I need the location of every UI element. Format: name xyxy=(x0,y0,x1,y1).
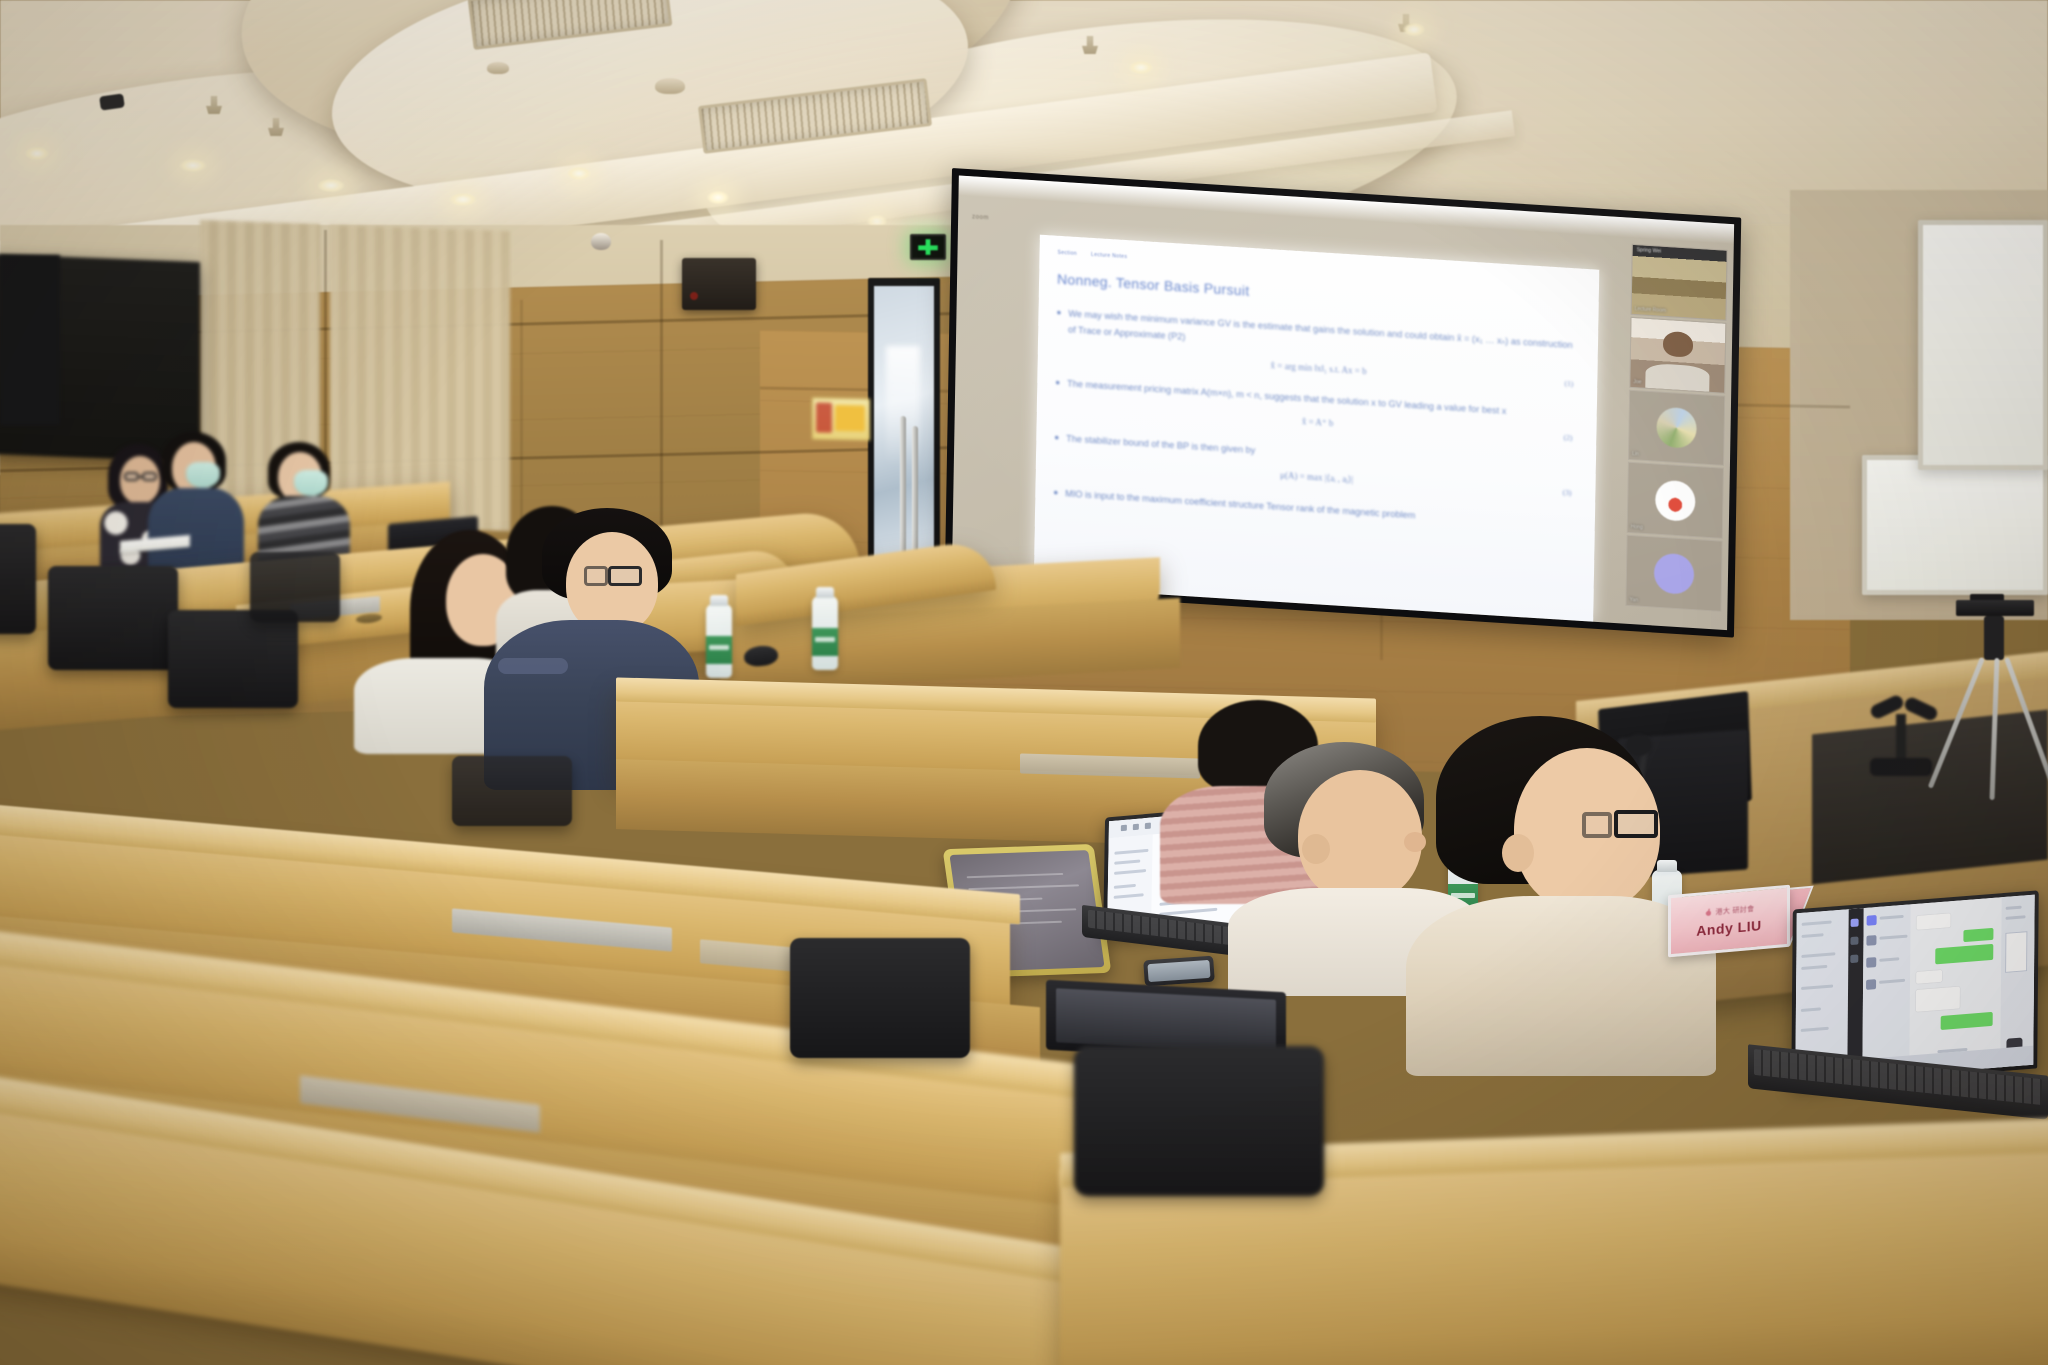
ceiling-downlight xyxy=(448,192,478,207)
sun-logo-icon xyxy=(1704,908,1713,918)
avatar xyxy=(1626,536,1721,611)
video-tile-name: Hong xyxy=(1631,524,1643,531)
ear xyxy=(1302,834,1330,864)
face-mask xyxy=(294,470,328,496)
lecture-chair[interactable] xyxy=(790,938,970,1058)
bullet-marker: ● xyxy=(1053,485,1058,501)
video-tile-avatar[interactable]: Lin xyxy=(1628,389,1725,466)
equation-body: x̂ = arg min ‖x‖₁ s.t. Ax = b xyxy=(1270,360,1366,376)
video-tile-name: Joe xyxy=(1633,379,1641,386)
bottle-cap xyxy=(710,595,728,606)
whiteboard xyxy=(1862,455,2048,595)
ceiling-downlight xyxy=(1402,22,1426,37)
bottle-cap xyxy=(816,587,834,598)
video-conference-strip: Spring Wei Lecture Room Joe Lin xyxy=(1625,244,1727,612)
lecture-chair[interactable] xyxy=(48,566,178,670)
glasses-bridge xyxy=(139,476,143,478)
speaker-icon xyxy=(682,258,756,310)
equation-body: x̂ = A⁺ b xyxy=(1302,417,1334,429)
message-thread[interactable] xyxy=(1909,897,2001,1074)
smoke-detector-icon xyxy=(655,78,685,94)
smoke-detector-icon xyxy=(487,62,509,74)
wall-dark-panel xyxy=(0,255,60,425)
ceiling-downlight xyxy=(1128,60,1154,75)
avatar xyxy=(1629,390,1724,465)
tripod-head xyxy=(1956,600,2034,616)
equation-tag: (2) xyxy=(1564,433,1573,443)
hoodie-collar xyxy=(498,658,568,674)
exit-glyph xyxy=(918,239,938,255)
ear xyxy=(1502,834,1534,872)
laptop-right[interactable] xyxy=(1748,900,2038,1120)
ceiling-downlight xyxy=(178,158,208,173)
camera-icon xyxy=(591,233,611,250)
screen-app-label: zoom xyxy=(972,214,989,221)
video-person-body xyxy=(1645,363,1709,392)
safety-notice-poster xyxy=(812,397,870,440)
ceiling-downlight xyxy=(316,178,346,193)
bullet-marker: ● xyxy=(1055,375,1060,391)
bullet-marker: ● xyxy=(1056,305,1061,337)
lecture-chair[interactable] xyxy=(1074,1046,1324,1196)
lecture-chair[interactable] xyxy=(168,610,298,708)
ceiling-downlight xyxy=(24,146,50,161)
avatar-image xyxy=(1654,552,1695,595)
lecture-chair[interactable] xyxy=(250,552,340,622)
video-tile-header-label: Spring Wei xyxy=(1637,247,1723,261)
app-details-pane[interactable] xyxy=(2000,895,2035,1068)
avatar-image xyxy=(1656,407,1697,450)
water-bottle[interactable] xyxy=(812,596,838,670)
face-mask xyxy=(186,462,220,488)
video-tile-avatar[interactable]: Yan xyxy=(1625,535,1722,612)
lecture-chair[interactable] xyxy=(452,756,572,826)
avatar-image xyxy=(1655,479,1696,522)
bullet-marker: ● xyxy=(1054,430,1059,446)
water-bottle[interactable] xyxy=(706,604,732,678)
bullet-text: MIO is input to the maximum coefficient … xyxy=(1065,486,1415,524)
whiteboard xyxy=(1918,220,2048,470)
app-nav-rail[interactable] xyxy=(1848,908,1864,1079)
smartphone[interactable] xyxy=(1143,956,1215,987)
lecture-hall-photo: zoom Section Lecture Notes Nonneg. Tenso… xyxy=(0,0,2048,1365)
slide-breadcrumb-left: Section xyxy=(1057,249,1077,256)
bottle-label xyxy=(706,636,732,664)
equation-tag: (3) xyxy=(1563,488,1572,498)
person-camera-feed xyxy=(1630,318,1725,393)
message-bubble-sent xyxy=(1940,1012,1992,1030)
video-tile-room[interactable]: Spring Wei Lecture Room xyxy=(1631,244,1728,321)
video-tile-avatar[interactable]: Hong xyxy=(1627,462,1724,539)
ceiling-downlight xyxy=(706,190,730,205)
tripod-leg xyxy=(2004,657,2048,790)
video-tile-name: Yan xyxy=(1630,597,1639,604)
video-tile-person[interactable]: Joe xyxy=(1629,317,1726,394)
equation-body: μ(A) = max |⟨aᵢ , aⱼ⟩| xyxy=(1280,470,1353,485)
video-person-head xyxy=(1663,331,1693,358)
video-tile-name: Lin xyxy=(1632,451,1639,457)
message-bubble-sent xyxy=(1963,928,1993,942)
tripod-neck xyxy=(1984,616,2004,660)
glasses xyxy=(608,566,642,586)
tripod-leg xyxy=(1990,658,2000,800)
emergency-exit-icon xyxy=(910,234,946,260)
bottle-label xyxy=(812,628,838,656)
name-card-org: 港大 研討會 xyxy=(1704,904,1755,918)
message-bubble-sent xyxy=(1935,944,1993,965)
glasses xyxy=(584,566,608,586)
glasses xyxy=(124,472,139,481)
equation-tag: (1) xyxy=(1565,379,1574,389)
poster-graphic xyxy=(835,405,865,432)
slide-breadcrumb-right: Lecture Notes xyxy=(1091,251,1127,259)
av-bracket xyxy=(1862,700,1952,780)
glasses xyxy=(1582,812,1612,838)
glasses xyxy=(1614,810,1658,838)
ceiling-downlight xyxy=(566,166,592,181)
lecture-chair[interactable] xyxy=(0,524,36,634)
poster-graphic xyxy=(816,402,832,432)
conversation-list[interactable] xyxy=(1862,904,1911,1078)
bullet-text: The stabilizer bound of the BP is then g… xyxy=(1066,431,1255,459)
